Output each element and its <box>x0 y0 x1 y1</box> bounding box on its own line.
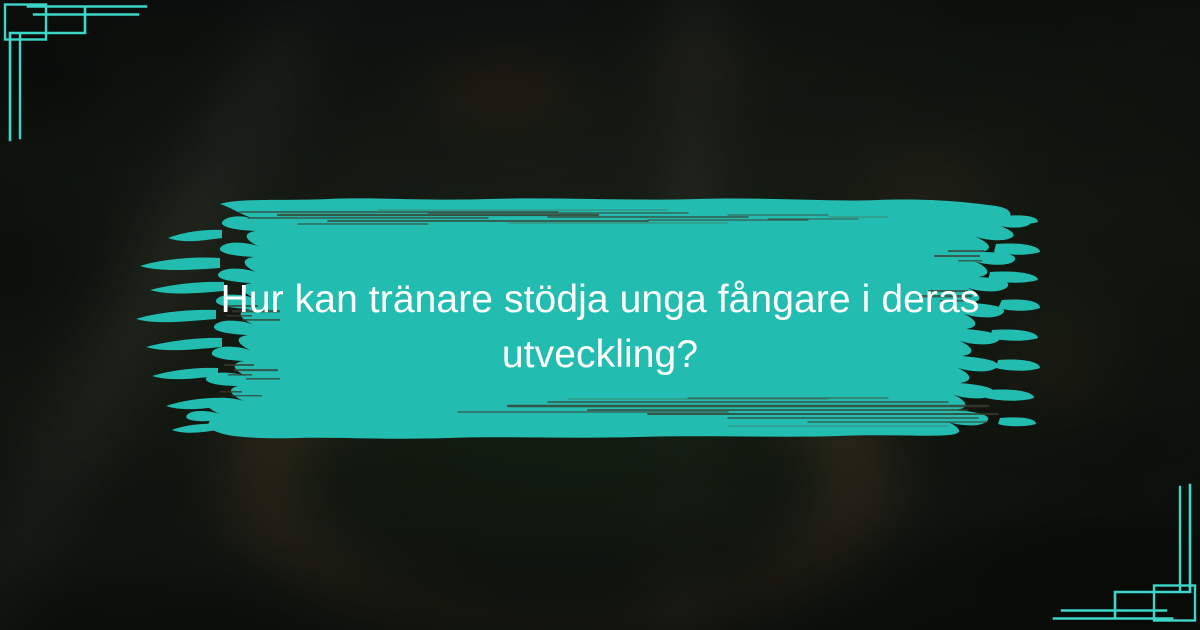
page-title: Hur kan tränare stödja unga fångare i de… <box>195 272 1005 383</box>
corner-bracket-top-left <box>0 0 170 155</box>
corner-bracket-bottom-right <box>1030 475 1200 630</box>
share-card: Hur kan tränare stödja unga fångare i de… <box>0 0 1200 630</box>
